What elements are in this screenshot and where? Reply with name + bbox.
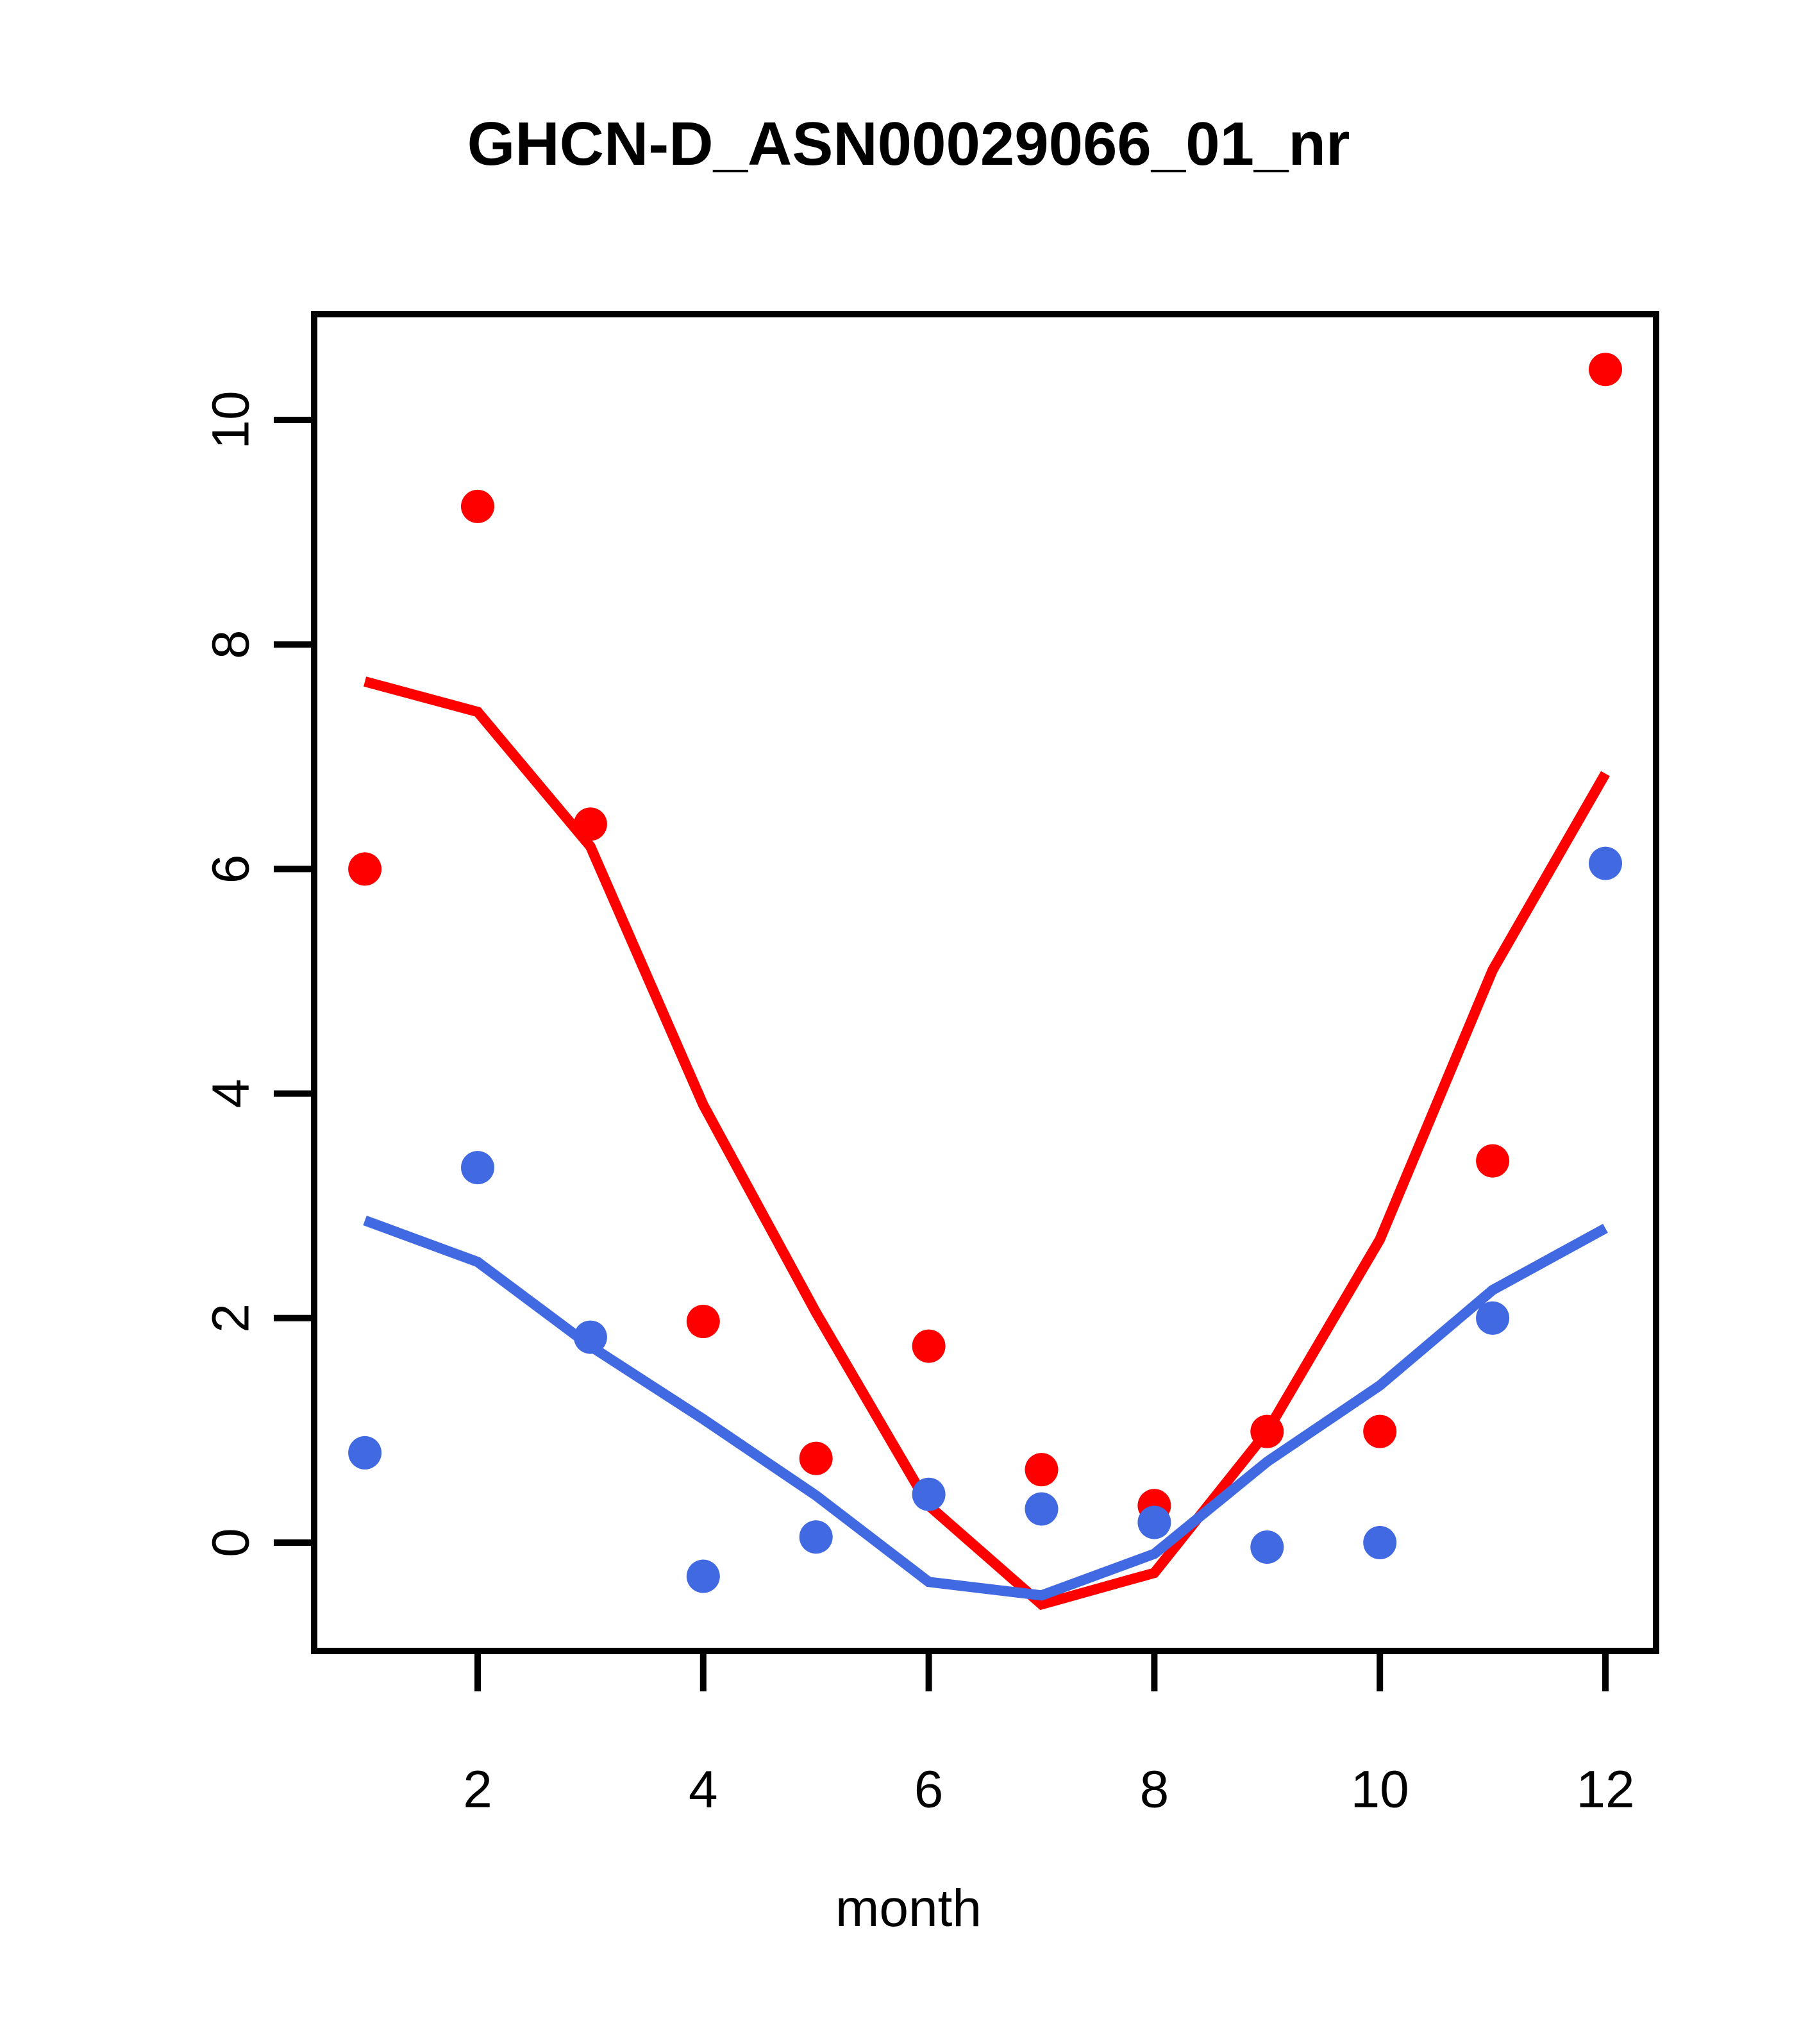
x-tick-label: 6 bbox=[914, 1760, 944, 1818]
x-axis-ticks: 24681012 bbox=[463, 1651, 1634, 1818]
y-tick-label: 0 bbox=[202, 1528, 260, 1557]
y-tick-label: 2 bbox=[202, 1303, 260, 1333]
data-point-blue-points bbox=[800, 1520, 833, 1554]
data-point-red-points bbox=[1589, 353, 1622, 386]
x-tick-label: 10 bbox=[1351, 1760, 1409, 1818]
data-point-red-points bbox=[1250, 1415, 1284, 1448]
x-axis-label: month bbox=[0, 1879, 1817, 1939]
data-point-red-points bbox=[800, 1442, 833, 1475]
x-tick-label: 8 bbox=[1140, 1760, 1169, 1818]
data-point-blue-points bbox=[348, 1436, 381, 1470]
data-point-blue-points bbox=[1476, 1302, 1509, 1335]
y-axis-ticks: 0246810 bbox=[202, 390, 315, 1557]
data-point-red-points bbox=[574, 807, 607, 841]
series-line-red-line bbox=[365, 682, 1605, 1604]
data-point-blue-points bbox=[1363, 1526, 1396, 1559]
y-tick-label: 10 bbox=[202, 390, 260, 449]
data-point-blue-points bbox=[461, 1151, 494, 1184]
data-point-blue-points bbox=[912, 1478, 946, 1511]
data-point-red-points bbox=[461, 490, 494, 523]
chart-canvas: 0246810 24681012 bbox=[0, 0, 1817, 2044]
data-point-blue-points bbox=[1137, 1505, 1171, 1539]
x-tick-label: 2 bbox=[463, 1760, 492, 1818]
y-tick-label: 8 bbox=[202, 630, 260, 659]
y-tick-label: 6 bbox=[202, 855, 260, 884]
y-tick-label: 4 bbox=[202, 1079, 260, 1109]
x-tick-label: 4 bbox=[689, 1760, 718, 1818]
data-point-blue-points bbox=[1250, 1530, 1284, 1564]
data-point-red-points bbox=[1476, 1144, 1509, 1178]
data-point-red-points bbox=[1025, 1453, 1059, 1486]
series-line-blue-line bbox=[365, 1220, 1605, 1595]
data-point-blue-points bbox=[687, 1560, 720, 1593]
plot-frame bbox=[314, 314, 1656, 1651]
data-point-red-points bbox=[1363, 1415, 1396, 1448]
data-point-red-points bbox=[912, 1330, 946, 1363]
data-point-blue-points bbox=[574, 1321, 607, 1354]
data-point-red-points bbox=[687, 1305, 720, 1338]
data-point-red-points bbox=[348, 852, 381, 885]
chart-page: GHCN-D_ASN00029066_01_nr 0246810 2468101… bbox=[0, 0, 1817, 2044]
series-layer bbox=[348, 353, 1622, 1604]
data-point-blue-points bbox=[1025, 1492, 1059, 1525]
x-tick-label: 12 bbox=[1576, 1760, 1634, 1818]
data-point-blue-points bbox=[1589, 847, 1622, 880]
